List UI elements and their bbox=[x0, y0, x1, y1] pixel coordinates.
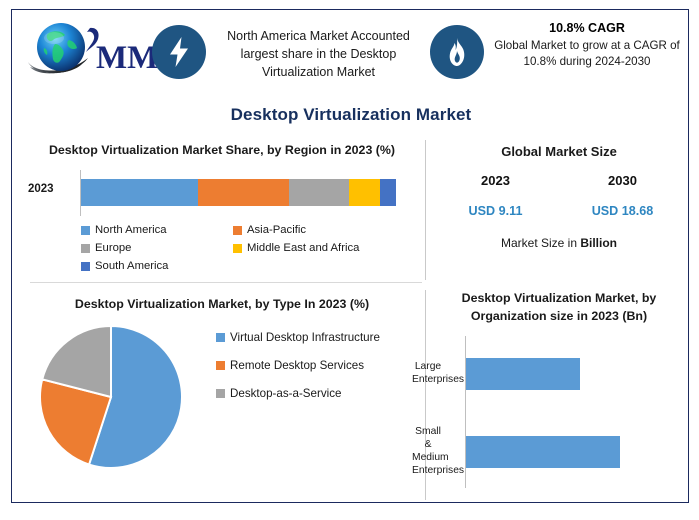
organization-bar bbox=[466, 358, 580, 390]
chart-region-share: Desktop Virtualization Market Share, by … bbox=[24, 142, 420, 284]
legend-swatch-icon bbox=[216, 333, 225, 342]
infographic-root: MMR North America Market Accounted large… bbox=[0, 0, 699, 520]
market-size-column-2030: 2030 USD 18.68 bbox=[559, 173, 686, 218]
region-legend-item: Asia-Pacific bbox=[233, 222, 385, 239]
organization-row-smb: Small & Medium Enterprises bbox=[430, 436, 688, 468]
organization-category-label: Large Enterprises bbox=[412, 361, 447, 387]
region-category-label: 2023 bbox=[28, 183, 54, 195]
legend-swatch-icon bbox=[216, 389, 225, 398]
legend-swatch-icon bbox=[233, 226, 242, 235]
region-bar-segment bbox=[349, 179, 381, 206]
chart-region-share-title: Desktop Virtualization Market Share, by … bbox=[24, 142, 420, 160]
region-legend-label: Asia-Pacific bbox=[247, 224, 306, 236]
header-highlight-region-text: North America Market Accounted largest s… bbox=[206, 16, 427, 81]
pie-legend-label: Desktop-as-a-Service bbox=[230, 386, 341, 402]
flame-icon bbox=[430, 25, 484, 79]
pie-legend-item: Virtual Desktop Infrastructure bbox=[216, 330, 412, 346]
region-legend-item: Europe bbox=[81, 240, 233, 257]
organization-bar bbox=[466, 436, 620, 468]
region-legend-item: South America bbox=[81, 258, 420, 275]
globe-swoosh-icon: MMR bbox=[24, 14, 159, 88]
legend-swatch-icon bbox=[216, 361, 225, 370]
market-size-year: 2030 bbox=[559, 173, 686, 188]
market-size-unit-value: Billion bbox=[580, 236, 617, 250]
region-plot-area: 2023 bbox=[24, 170, 420, 216]
market-size-value: USD 18.68 bbox=[559, 204, 686, 218]
chart-type-share: Desktop Virtualization Market, by Type I… bbox=[24, 296, 420, 501]
region-legend-label: North America bbox=[95, 224, 167, 236]
market-size-value: USD 9.11 bbox=[432, 204, 559, 218]
market-size-unit-prefix: Market Size in bbox=[501, 236, 580, 250]
region-bar-segment bbox=[289, 179, 349, 206]
logo-wordmark: MMR bbox=[96, 40, 159, 76]
organization-plot-area: Large Enterprises Small & Medium Enterpr… bbox=[430, 336, 688, 488]
region-legend-label: Europe bbox=[95, 242, 131, 254]
global-market-size-title: Global Market Size bbox=[432, 144, 686, 159]
region-bar-segment bbox=[81, 179, 198, 206]
pie-plot-area: Virtual Desktop InfrastructureRemote Des… bbox=[24, 322, 420, 474]
pie-chart bbox=[38, 324, 184, 470]
region-legend: North AmericaAsia-PacificEuropeMiddle Ea… bbox=[24, 222, 420, 276]
header: MMR North America Market Accounted large… bbox=[12, 10, 690, 94]
pie-legend-label: Remote Desktop Services bbox=[230, 358, 364, 374]
region-bar-segment bbox=[380, 179, 396, 206]
market-size-column-2023: 2023 USD 9.11 bbox=[432, 173, 559, 218]
cagr-description: Global Market to grow at a CAGR of 10.8%… bbox=[494, 39, 680, 68]
mmr-logo: MMR bbox=[24, 14, 159, 88]
legend-swatch-icon bbox=[81, 244, 90, 253]
global-market-size-columns: 2023 USD 9.11 2030 USD 18.68 bbox=[432, 173, 686, 218]
chart-organization-size: Desktop Virtualization Market, by Organi… bbox=[430, 290, 688, 500]
region-legend-label: South America bbox=[95, 260, 168, 272]
cagr-headline: 10.8% CAGR bbox=[488, 20, 686, 38]
pie-legend-label: Virtual Desktop Infrastructure bbox=[230, 330, 380, 346]
region-stacked-bar bbox=[81, 179, 396, 206]
region-legend-item: Middle East and Africa bbox=[233, 240, 385, 257]
market-size-unit-note: Market Size in Billion bbox=[432, 236, 686, 250]
legend-swatch-icon bbox=[81, 226, 90, 235]
infographic-frame: MMR North America Market Accounted large… bbox=[11, 9, 689, 503]
pie-legend-item: Desktop-as-a-Service bbox=[216, 386, 412, 402]
organization-row-large: Large Enterprises bbox=[430, 358, 688, 390]
header-highlight-region: North America Market Accounted largest s… bbox=[152, 16, 427, 81]
global-market-size-panel: Global Market Size 2023 USD 9.11 2030 US… bbox=[432, 144, 686, 280]
divider-vertical-top bbox=[425, 140, 426, 280]
market-size-year: 2023 bbox=[432, 173, 559, 188]
legend-swatch-icon bbox=[233, 244, 242, 253]
header-highlight-cagr-text: 10.8% CAGR Global Market to grow at a CA… bbox=[484, 16, 686, 71]
region-legend-label: Middle East and Africa bbox=[247, 242, 359, 254]
pie-legend-item: Remote Desktop Services bbox=[216, 358, 412, 374]
organization-category-label: Small & Medium Enterprises bbox=[412, 426, 447, 477]
region-bar-segment bbox=[198, 179, 289, 206]
pie-legend: Virtual Desktop InfrastructureRemote Des… bbox=[216, 330, 412, 414]
lightning-bolt-icon bbox=[152, 25, 206, 79]
chart-organization-size-title: Desktop Virtualization Market, by Organi… bbox=[430, 290, 688, 326]
header-highlight-cagr: 10.8% CAGR Global Market to grow at a CA… bbox=[430, 16, 686, 79]
legend-swatch-icon bbox=[81, 262, 90, 271]
chart-type-share-title: Desktop Virtualization Market, by Type I… bbox=[24, 296, 420, 314]
region-legend-item: North America bbox=[81, 222, 233, 239]
page-title: Desktop Virtualization Market bbox=[12, 105, 690, 125]
